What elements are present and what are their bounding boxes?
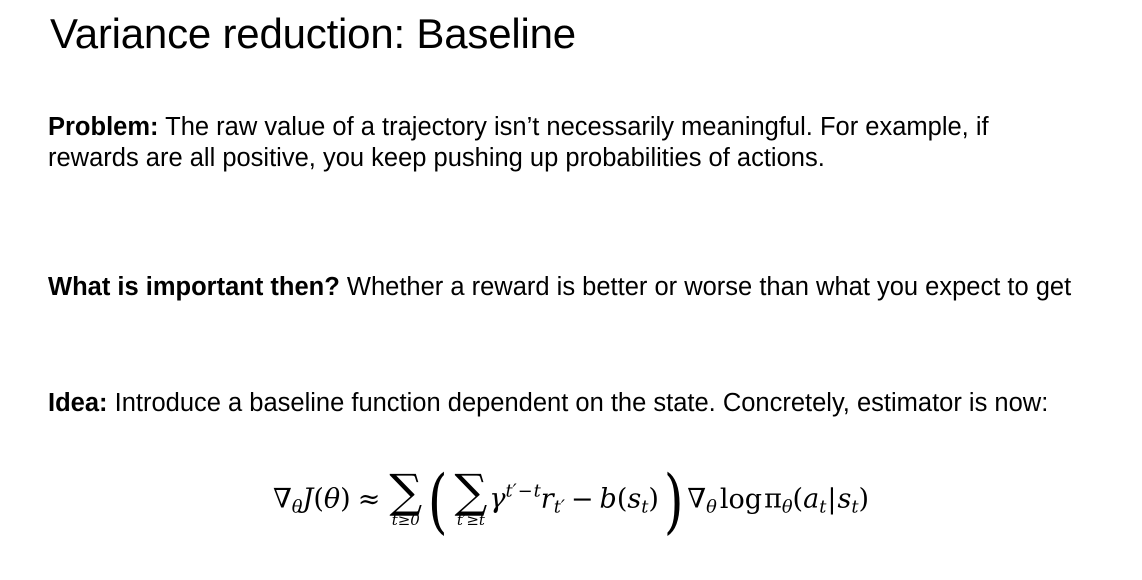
gamma-symbol: γ <box>489 484 505 515</box>
paren-close-2: ) <box>648 484 659 515</box>
inner-summation: ∑t′≥t <box>455 472 488 528</box>
advantage-group: ∑t′≥tγt′−trt′−b(st) <box>453 472 659 528</box>
theta-argument: θ <box>324 484 340 515</box>
policy-pi-subscript: θ <box>782 497 793 518</box>
sigma-glyph-outer: ∑ <box>389 472 422 512</box>
paren-open-1: ( <box>313 484 324 515</box>
gamma-exponent-minus: − <box>517 481 534 502</box>
state-s-1: s <box>627 484 641 515</box>
sigma-glyph-inner: ∑ <box>455 472 488 512</box>
paren-open-2: ( <box>617 484 628 515</box>
gamma-exponent: t′−t <box>505 481 540 502</box>
nabla-symbol: ∇ <box>273 484 292 515</box>
paragraph-idea: Idea: Introduce a baseline function depe… <box>48 388 1108 419</box>
objective-J: J <box>303 484 314 515</box>
nabla-2-theta-subscript: θ <box>706 497 717 518</box>
nabla-theta-subscript: θ <box>292 497 303 518</box>
outer-summation-limit: t≥0 <box>389 513 422 529</box>
big-paren-open: ( <box>428 480 448 523</box>
page-title: Variance reduction: Baseline <box>50 8 576 60</box>
action-a: a <box>803 484 819 515</box>
paragraph-idea-lead: Idea: <box>48 389 108 417</box>
estimator-formula: ∇θJ(θ)≈∑t≥0(∑t′≥tγt′−trt′−b(st))∇θlogπθ(… <box>0 472 1142 528</box>
reward-subscript: t′ <box>554 497 565 518</box>
conditional-bar: | <box>826 484 837 515</box>
inner-summation-limit: t′≥t <box>455 513 488 529</box>
paragraph-idea-text: Introduce a baseline function dependent … <box>108 389 1049 417</box>
big-paren-close: ) <box>664 480 684 523</box>
paren-open-3: ( <box>793 484 804 515</box>
outer-summation: ∑t≥0 <box>389 472 422 528</box>
reward-r: r <box>541 484 554 515</box>
state-s-2: s <box>837 484 851 515</box>
paragraph-problem-lead: Problem: <box>48 113 159 141</box>
state-s-2-subscript: t <box>851 497 858 518</box>
policy-pi: π <box>764 484 782 515</box>
gamma-exponent-tprime: t′ <box>505 481 516 502</box>
baseline-b: b <box>600 484 617 515</box>
gamma-exponent-t: t <box>534 481 541 502</box>
approx-symbol: ≈ <box>351 484 388 515</box>
paragraph-problem-text: The raw value of a trajectory isn’t nece… <box>48 113 989 172</box>
nabla-symbol-2: ∇ <box>687 484 706 515</box>
minus-operator: − <box>565 484 600 515</box>
formula-expression: ∇θJ(θ)≈∑t≥0(∑t′≥tγt′−trt′−b(st))∇θlogπθ(… <box>273 472 869 528</box>
paragraph-problem: Problem: The raw value of a trajectory i… <box>48 112 1083 174</box>
slide-canvas: Variance reduction: Baseline Problem: Th… <box>0 0 1142 580</box>
paragraph-question-lead: What is important then? <box>48 273 340 301</box>
paren-close-3: ) <box>859 484 870 515</box>
log-operator: log <box>717 484 764 515</box>
paragraph-question: What is important then? Whether a reward… <box>48 272 1140 303</box>
paren-close-1: ) <box>340 484 351 515</box>
paragraph-question-text: Whether a reward is better or worse than… <box>340 273 1071 301</box>
